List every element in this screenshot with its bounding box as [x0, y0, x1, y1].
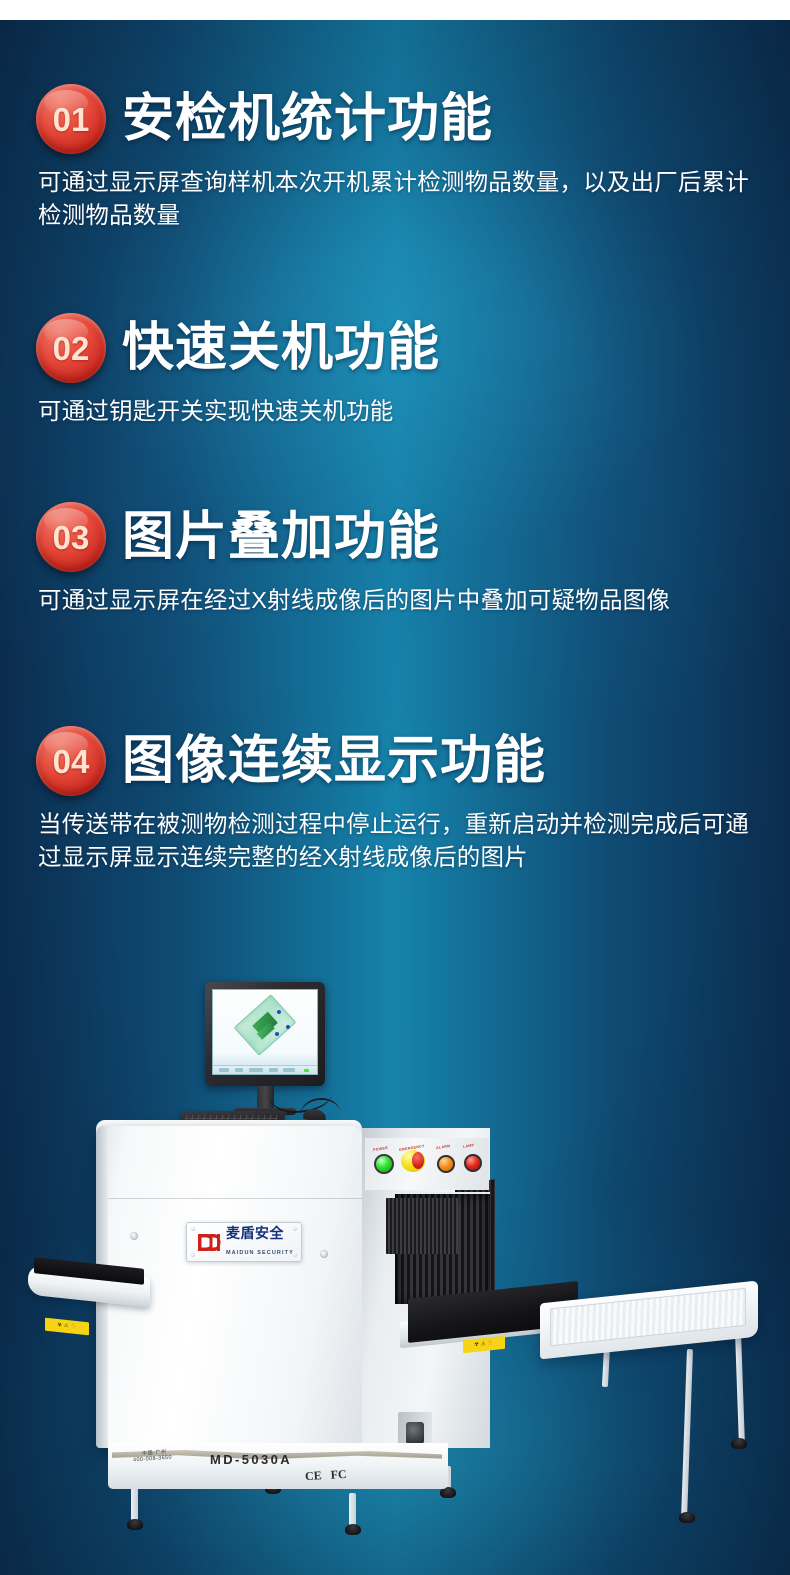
alarm-label: ALARM [436, 1144, 451, 1150]
md-monogram-icon [197, 1233, 221, 1252]
cabinet-screw [320, 1250, 328, 1258]
plate-screw-icon [293, 1227, 297, 1231]
brand-name-en: MAIDUN SECURITY [226, 1250, 294, 1256]
feature-item-01: 01 安检机统计功能 可通过显示屏查询样机本次开机累计检测物品数量，以及出厂后累… [36, 84, 766, 233]
ce-mark-icon: CE [305, 1468, 322, 1484]
power-button[interactable] [374, 1154, 394, 1174]
monitor-bezel [205, 982, 325, 1086]
monitor-screen [212, 989, 318, 1075]
brand-plate: 麦盾安全 MAIDUN SECURITY [186, 1222, 302, 1262]
top-white-strip [0, 0, 790, 20]
feature-number: 03 [53, 521, 90, 554]
lamp-label: LAMP [463, 1143, 475, 1149]
certification-marks: CE FC [305, 1467, 347, 1484]
feature-description: 可通过显示屏在经过X射线成像后的图片中叠加可疑物品图像 [38, 584, 756, 617]
monitor-power-led-icon [304, 1069, 309, 1072]
feature-title: 图像连续显示功能 [122, 733, 546, 789]
cabinet-vent-grille [386, 1198, 458, 1254]
feature-number-badge: 02 [36, 313, 106, 383]
feature-number: 02 [53, 332, 90, 365]
lamp-button[interactable] [464, 1154, 482, 1172]
feature-header: 04 图像连续显示功能 [36, 726, 766, 796]
power-label: POWER [373, 1146, 389, 1152]
cabinet-panel-seam [108, 1198, 362, 1199]
feature-header: 02 快速关机功能 [36, 313, 766, 383]
brand-name-block: 麦盾安全 MAIDUN SECURITY [226, 1226, 294, 1258]
product-feature-page: 01 安检机统计功能 可通过显示屏查询样机本次开机累计检测物品数量，以及出厂后累… [0, 0, 790, 1575]
feature-number: 01 [53, 103, 90, 136]
feature-number: 04 [53, 745, 90, 778]
fc-mark-icon: FC [330, 1467, 347, 1483]
caution-sticker-icons: ☢⚠✋ [57, 1323, 76, 1330]
plate-screw-icon [191, 1227, 195, 1231]
feature-title: 安检机统计功能 [122, 91, 493, 147]
control-panel: POWER EMERGENCY ALARM LAMP [365, 1138, 489, 1190]
caution-sticker-icons: ☢⚠✋ [474, 1341, 493, 1348]
brand-name-cn: 麦盾安全 [226, 1225, 284, 1241]
feature-number-badge: 01 [36, 84, 106, 154]
software-taskbar [213, 1065, 317, 1074]
output-roller-surface [550, 1288, 746, 1347]
feature-description: 当传送带在被测物检测过程中停止运行，重新启动并检测完成后可通过显示屏显示连续完整… [38, 808, 756, 875]
alarm-button[interactable] [437, 1155, 455, 1173]
feature-number-badge: 03 [36, 502, 106, 572]
feature-item-04: 04 图像连续显示功能 当传送带在被测物检测过程中停止运行，重新启动并检测完成后… [36, 726, 766, 875]
feature-number-badge: 04 [36, 726, 106, 796]
feature-title: 快速关机功能 [122, 320, 440, 376]
plate-screw-icon [293, 1253, 297, 1257]
feature-description: 可通过显示屏查询样机本次开机累计检测物品数量，以及出厂后累计检测物品数量 [38, 166, 756, 233]
model-number-label: MD-5030A [210, 1452, 292, 1467]
feature-header: 01 安检机统计功能 [36, 84, 766, 154]
feature-item-02: 02 快速关机功能 可通过钥匙开关实现快速关机功能 [36, 313, 766, 428]
plate-screw-icon [191, 1253, 195, 1257]
cabinet-screw [130, 1232, 138, 1240]
feature-title: 图片叠加功能 [122, 509, 440, 565]
feature-description: 可通过钥匙开关实现快速关机功能 [38, 395, 756, 428]
control-panel-labels: POWER EMERGENCY ALARM LAMP [365, 1144, 489, 1153]
feature-item-03: 03 图片叠加功能 可通过显示屏在经过X射线成像后的图片中叠加可疑物品图像 [36, 502, 766, 617]
emergency-stop-button[interactable] [401, 1150, 425, 1172]
feature-header: 03 图片叠加功能 [36, 502, 766, 572]
